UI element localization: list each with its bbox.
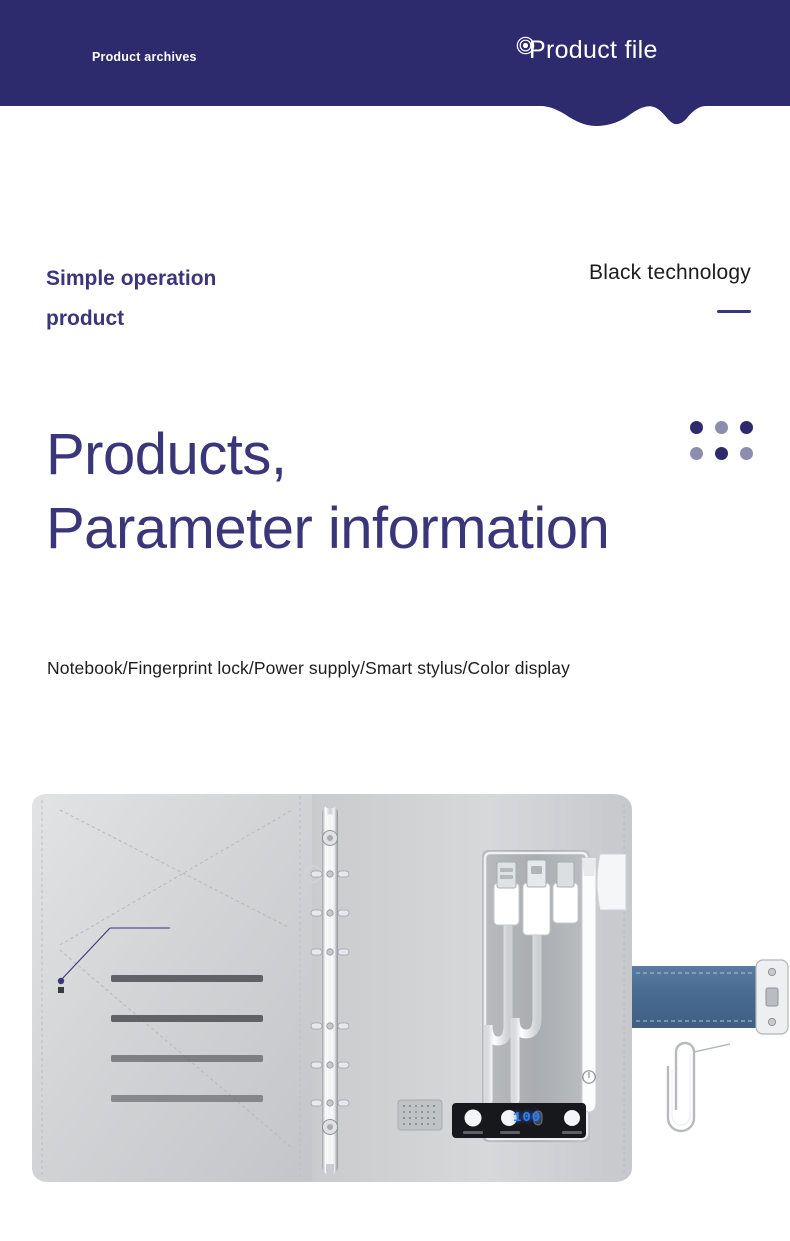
panel-button (564, 1110, 580, 1126)
page-header: Product archives Product file (0, 0, 790, 140)
dot (690, 447, 703, 460)
notebook-cover-left (32, 794, 312, 1182)
fingerprint-sensor (766, 988, 778, 1006)
product-illustration (0, 770, 790, 1200)
fingerprint-hole (58, 987, 64, 993)
page-title: Product file (529, 36, 658, 65)
speaker-grille (398, 1100, 442, 1130)
pen-loop (597, 854, 626, 910)
product-spec-page: Product archives Product file Simple ope… (0, 0, 790, 1241)
card-slot (111, 1095, 263, 1102)
paperclip-needle (668, 1043, 730, 1131)
smart-stylus (582, 858, 596, 1112)
eyebrow-left-line1: Simple operation (46, 259, 376, 299)
accent-rule (717, 310, 751, 313)
feature-subtitle: Notebook/Fingerprint lock/Power supply/S… (47, 658, 570, 679)
headline-line1: Products, (46, 422, 287, 487)
eyebrow-left: Simple operation product (46, 259, 376, 339)
card-slot (111, 1015, 263, 1022)
dot (740, 421, 753, 434)
dot (690, 421, 703, 434)
eyebrow-left-line2: product (46, 299, 376, 339)
page-headline: Products, Parameter information (46, 418, 706, 566)
dot (740, 447, 753, 460)
blue-leather-strap (632, 966, 760, 1028)
header-title-group: Product file (516, 36, 658, 65)
power-bank-cable-tray (482, 850, 596, 1142)
card-slot (111, 975, 263, 982)
eyebrow-right-label: Black technology (589, 261, 751, 285)
eyebrow-right: Black technology (589, 261, 751, 313)
product-photo: Fingerprint setting hole Fingerprint set… (0, 770, 790, 1200)
battery-level-readout: 100 (513, 1110, 541, 1126)
brand-tag: Product archives (92, 50, 197, 64)
decorative-dot-grid (690, 421, 753, 460)
dot (715, 421, 728, 434)
headline-line2: Parameter information (46, 492, 706, 566)
fingerprint-lock-buckle (756, 960, 788, 1034)
card-slot (111, 1055, 263, 1062)
dot (715, 447, 728, 460)
paperclip-needle-highlight (672, 1054, 690, 1125)
panel-button (465, 1110, 482, 1127)
callout-anchor-hole (58, 978, 64, 984)
